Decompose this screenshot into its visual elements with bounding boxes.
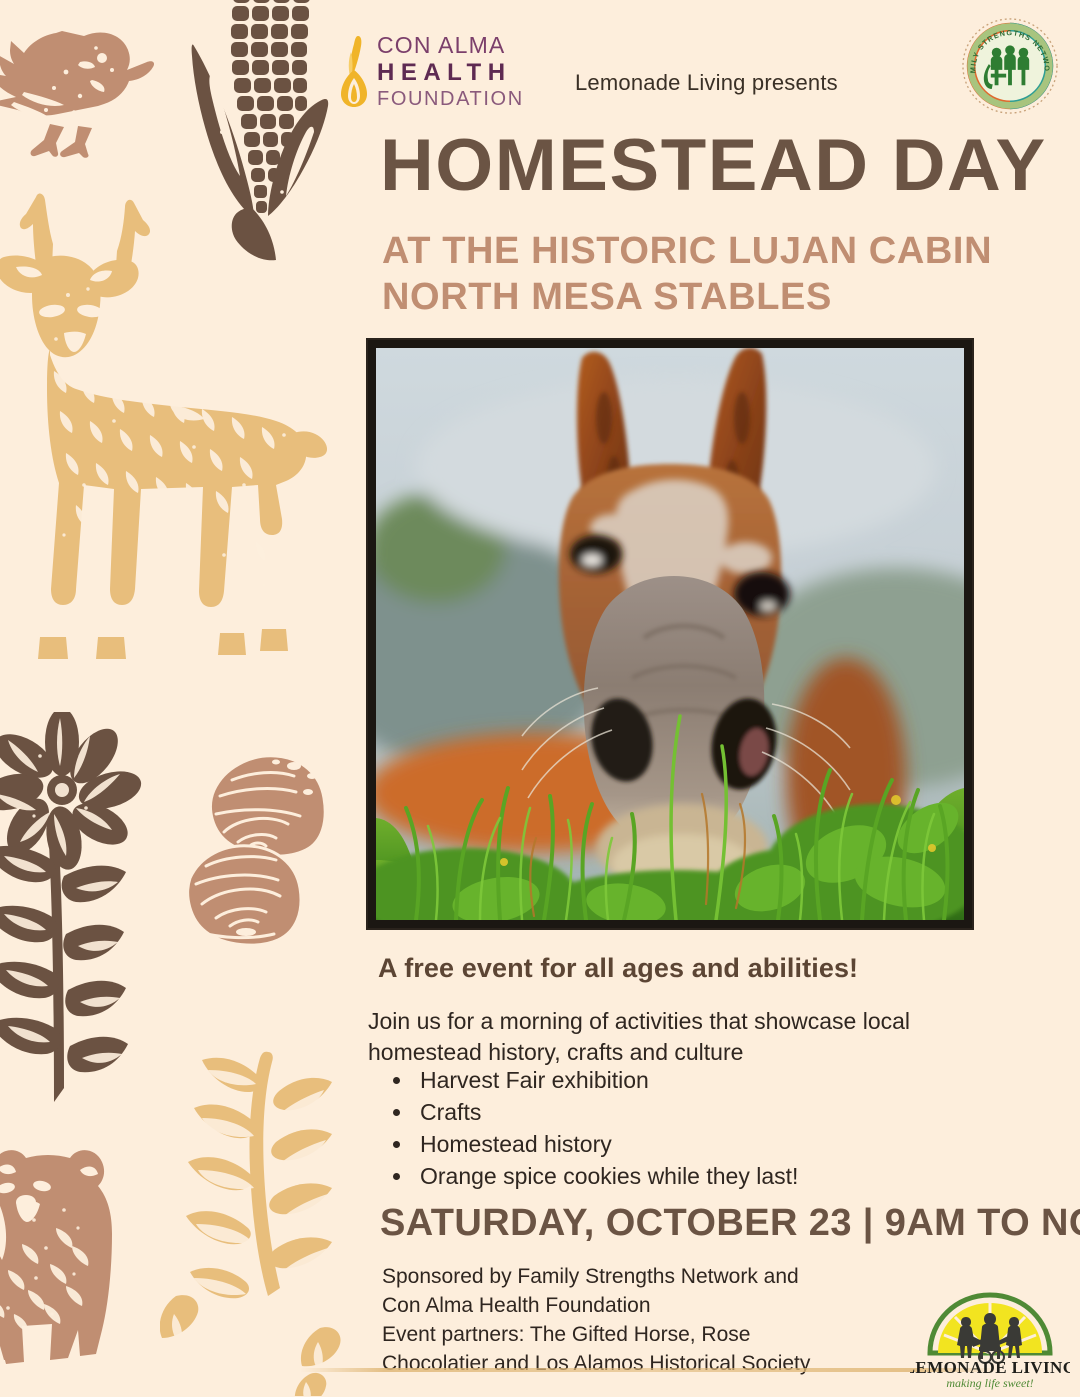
- list-item: Homestead history: [414, 1128, 1054, 1160]
- poster-canvas: CON ALMA HEALTH FOUNDATION Lemonade Livi…: [0, 0, 1080, 1397]
- free-event-headline: A free event for all ages and abilities!: [378, 953, 1018, 984]
- con-alma-line3: FOUNDATION: [377, 89, 524, 109]
- leafy-branch-illustration: [160, 1046, 370, 1396]
- flower-illustration: [0, 712, 150, 1102]
- potato-illustration: [172, 736, 352, 966]
- subtitle-line-2: NORTH MESA STABLES: [382, 274, 1022, 320]
- con-alma-health-foundation-logo: CON ALMA HEALTH FOUNDATION: [337, 30, 527, 112]
- footer-divider: [300, 1368, 1000, 1372]
- page-subtitle: AT THE HISTORIC LUJAN CABIN NORTH MESA S…: [382, 228, 1022, 320]
- bear-illustration: [0, 1128, 198, 1378]
- bird-illustration: [0, 18, 188, 158]
- activities-list: Harvest Fair exhibition Crafts Homestead…: [368, 1064, 1054, 1192]
- family-strengths-network-logo: FAMILY STRENGTHS NETWORK: [962, 18, 1058, 114]
- con-alma-line1: CON ALMA: [377, 34, 524, 57]
- deer-illustration: [0, 185, 344, 675]
- sponsors-block: Sponsored by Family Strengths Network an…: [382, 1262, 902, 1378]
- event-date-time: SATURDAY, OCTOBER 23 | 9AM TO NOON: [380, 1202, 1040, 1245]
- con-alma-flame-icon: [337, 34, 371, 108]
- page-title: HOMESTEAD DAY: [380, 128, 1053, 204]
- sponsor-line-4: Chocolatier and Los Alamos Historical So…: [382, 1349, 902, 1378]
- presents-line: Lemonade Living presents: [575, 70, 838, 96]
- lemonade-living-tagline: making life sweet!: [946, 1376, 1033, 1390]
- intro-paragraph: Join us for a morning of activities that…: [368, 1006, 1008, 1068]
- list-item: Harvest Fair exhibition: [414, 1064, 1054, 1096]
- list-item: Crafts: [414, 1096, 1054, 1128]
- con-alma-line2: HEALTH: [377, 61, 524, 85]
- sponsor-line-2: Con Alma Health Foundation: [382, 1291, 902, 1320]
- lemonade-living-wordmark: LEMONADE LIVING: [910, 1358, 1070, 1377]
- list-item: Orange spice cookies while they last!: [414, 1160, 1054, 1192]
- sponsor-line-1: Sponsored by Family Strengths Network an…: [382, 1262, 902, 1291]
- subtitle-line-1: AT THE HISTORIC LUJAN CABIN: [382, 228, 1022, 274]
- sponsor-line-3: Event partners: The Gifted Horse, Rose: [382, 1320, 902, 1349]
- lemonade-living-logo: LEMONADE LIVING making life sweet!: [910, 1291, 1070, 1391]
- corn-illustration: [186, 0, 356, 282]
- donkey-photo: [376, 348, 964, 920]
- donkey-photo-frame: [368, 340, 972, 928]
